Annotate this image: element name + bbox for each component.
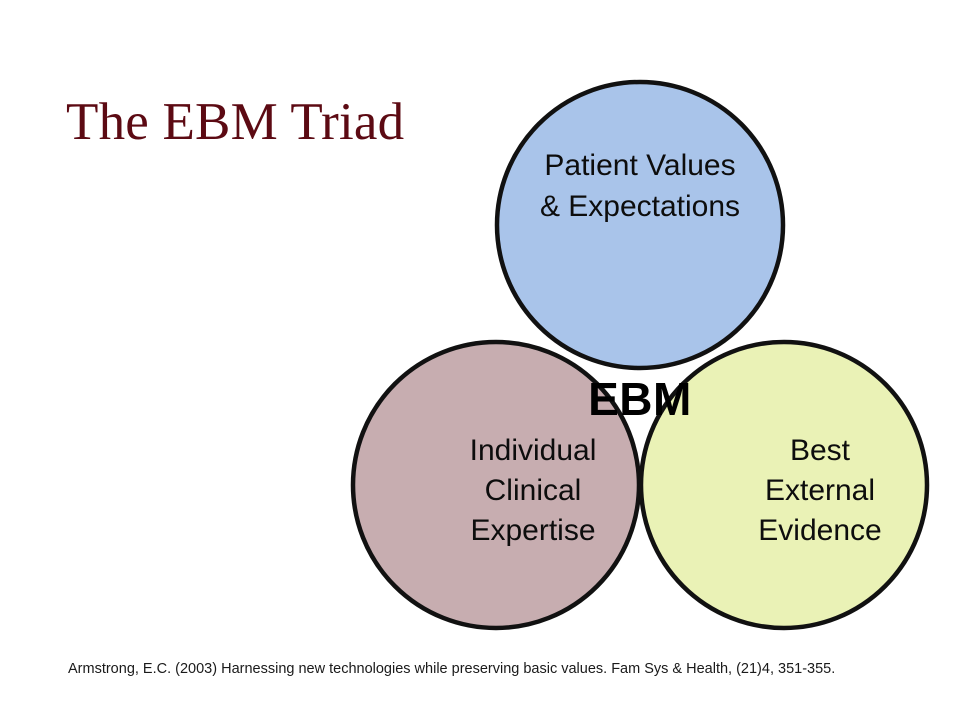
label-external-evidence-line2: External — [765, 474, 875, 507]
citation-text: Armstrong, E.C. (2003) Harnessing new te… — [68, 660, 928, 679]
label-ebm-center: EBM — [588, 373, 692, 425]
venn-diagram: Patient Values & Expectations Individual… — [330, 70, 950, 650]
label-clinical-expertise-line3: Expertise — [470, 514, 595, 547]
label-patient-values-line2: & Expectations — [540, 190, 740, 223]
label-clinical-expertise-line1: Individual — [470, 434, 597, 467]
venn-diagram-svg: Patient Values & Expectations Individual… — [330, 70, 950, 650]
slide-canvas: The EBM Triad — [0, 0, 960, 720]
label-patient-values-line1: Patient Values — [544, 149, 735, 182]
label-external-evidence-line1: Best — [790, 434, 851, 467]
label-external-evidence-line3: Evidence — [758, 514, 881, 547]
label-clinical-expertise-line2: Clinical — [485, 474, 582, 507]
